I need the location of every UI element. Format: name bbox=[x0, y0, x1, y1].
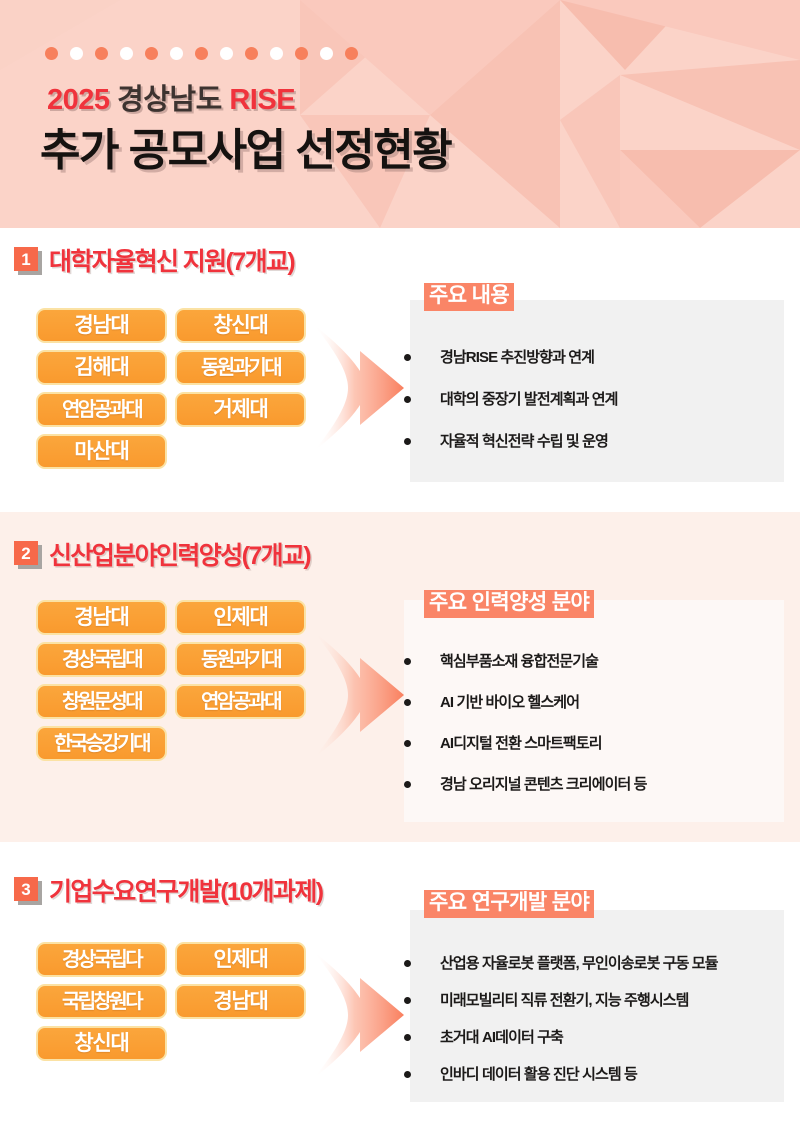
arrow-right-icon bbox=[300, 323, 415, 453]
section-3-university-list: 경상국립다 인제대 국립창원다 경남대 창신대 bbox=[36, 942, 316, 1061]
bullet-text: 경남 오리지널 콘텐츠 크리에이터 등 bbox=[440, 777, 647, 792]
university-pill[interactable]: 동원과기대 bbox=[175, 642, 306, 677]
section-3-heading: 3 기업수요연구개발(10개과제) bbox=[14, 872, 322, 908]
section-number-badge-1: 1 bbox=[14, 247, 40, 273]
section-1-bullet-list: 경남RISE 추진방향과 연계 대학의 중장기 발전계획과 연계 자율적 혁신전… bbox=[404, 350, 618, 449]
university-pill[interactable]: 창신대 bbox=[36, 1026, 167, 1061]
bullet-text: 초거대 AI데이터 구축 bbox=[440, 1030, 563, 1045]
section-1-heading: 1 대학자율혁신 지원(7개교) bbox=[14, 242, 294, 278]
dot-1 bbox=[45, 47, 58, 60]
university-pill[interactable]: 연암공과대 bbox=[36, 392, 167, 427]
bullet-dot-icon bbox=[404, 1071, 411, 1078]
dot-5 bbox=[145, 47, 158, 60]
bullet-dot-icon bbox=[404, 658, 411, 665]
university-pill[interactable]: 한국승강기대 bbox=[36, 726, 167, 761]
university-pill[interactable]: 동원과기대 bbox=[175, 350, 306, 385]
dot-3 bbox=[95, 47, 108, 60]
dot-2 bbox=[70, 47, 83, 60]
section-2-bullet-list: 핵심부품소재 융합전문기술 AI 기반 바이오 헬스케어 AI디지털 전환 스마… bbox=[404, 654, 647, 792]
section-2-heading: 2 신산업분야인력양성(7개교) bbox=[14, 536, 310, 572]
header-subtitle: 2025 경상남도 RISE bbox=[47, 76, 295, 118]
dot-8 bbox=[220, 47, 233, 60]
bullet-item: 미래모빌리티 직류 전환기, 지능 주행시스템 bbox=[404, 993, 718, 1008]
bullet-dot-icon bbox=[404, 1034, 411, 1041]
section-1: 1 대학자율혁신 지원(7개교) 경남대 창신대 김해대 동원과기대 연암공과대… bbox=[0, 228, 800, 512]
arrow-right-icon bbox=[300, 630, 415, 760]
section-1-arrow bbox=[300, 323, 415, 453]
university-pill[interactable]: 경남대 bbox=[36, 600, 167, 635]
bullet-text: 미래모빌리티 직류 전환기, 지능 주행시스템 bbox=[440, 993, 689, 1008]
dot-4 bbox=[120, 47, 133, 60]
university-pill[interactable]: 경상국립대 bbox=[36, 642, 167, 677]
section-3: 3 기업수요연구개발(10개과제) 경상국립다 인제대 국립창원다 경남대 창신… bbox=[0, 842, 800, 1130]
section-2-arrow bbox=[300, 630, 415, 760]
section-2-panel-title: 주요 인력양성 분야 bbox=[424, 590, 594, 618]
badge-number: 1 bbox=[14, 247, 38, 271]
dot-11 bbox=[295, 47, 308, 60]
section-2-university-list: 경남대 인제대 경상국립대 동원과기대 창원문성대 연암공과대 한국승강기대 bbox=[36, 600, 316, 761]
bullet-item: AI디지털 전환 스마트팩토리 bbox=[404, 736, 647, 751]
section-1-title: 대학자율혁신 지원(7개교) bbox=[49, 242, 294, 278]
section-2-panel-title-wrap: 주요 인력양성 분야 bbox=[424, 590, 594, 618]
bullet-dot-icon bbox=[404, 438, 411, 445]
bullet-dot-icon bbox=[404, 740, 411, 747]
university-pill[interactable]: 인제대 bbox=[175, 600, 306, 635]
bullet-dot-icon bbox=[404, 699, 411, 706]
badge-number: 3 bbox=[14, 877, 38, 901]
section-3-panel-title-wrap: 주요 연구개발 분야 bbox=[424, 890, 594, 918]
section-2-title: 신산업분야인력양성(7개교) bbox=[49, 536, 310, 572]
bullet-dot-icon bbox=[404, 997, 411, 1004]
bullet-dot-icon bbox=[404, 960, 411, 967]
bullet-text: 자율적 혁신전략 수립 및 운영 bbox=[440, 434, 608, 449]
university-pill[interactable]: 경남대 bbox=[175, 984, 306, 1019]
arrow-right-icon bbox=[300, 950, 415, 1080]
section-1-university-list: 경남대 창신대 김해대 동원과기대 연암공과대 거제대 마산대 bbox=[36, 308, 316, 469]
section-3-title: 기업수요연구개발(10개과제) bbox=[49, 872, 322, 908]
bullet-text: AI 기반 바이오 헬스케어 bbox=[440, 695, 579, 710]
university-pill[interactable]: 국립창원다 bbox=[36, 984, 167, 1019]
infographic-page: 2025 경상남도 RISE 추가 공모사업 선정현황 1 대학자율혁신 지원(… bbox=[0, 0, 800, 1130]
header-dot-decoration bbox=[45, 47, 358, 60]
bullet-item: 핵심부품소재 융합전문기술 bbox=[404, 654, 647, 669]
bullet-item: 경남 오리지널 콘텐츠 크리에이터 등 bbox=[404, 777, 647, 792]
university-pill[interactable]: 경남대 bbox=[36, 308, 167, 343]
dot-9 bbox=[245, 47, 258, 60]
bullet-text: 인바디 데이터 활용 진단 시스템 등 bbox=[440, 1067, 637, 1082]
bullet-dot-icon bbox=[404, 354, 411, 361]
university-pill[interactable]: 창원문성대 bbox=[36, 684, 167, 719]
page-header: 2025 경상남도 RISE 추가 공모사업 선정현황 bbox=[0, 0, 800, 228]
section-1-panel-title-wrap: 주요 내용 bbox=[424, 283, 514, 311]
bullet-text: AI디지털 전환 스마트팩토리 bbox=[440, 736, 602, 751]
bullet-dot-icon bbox=[404, 781, 411, 788]
bullet-item: 초거대 AI데이터 구축 bbox=[404, 1030, 718, 1045]
header-region: 경상남도 bbox=[110, 84, 230, 116]
section-3-bullet-list: 산업용 자율로봇 플랫폼, 무인이송로봇 구동 모듈 미래모빌리티 직류 전환기… bbox=[404, 956, 718, 1082]
bullet-text: 대학의 중장기 발전계획과 연계 bbox=[440, 392, 618, 407]
bullet-item: 자율적 혁신전략 수립 및 운영 bbox=[404, 434, 618, 449]
university-pill[interactable]: 창신대 bbox=[175, 308, 306, 343]
bullet-item: 대학의 중장기 발전계획과 연계 bbox=[404, 392, 618, 407]
university-pill[interactable]: 경상국립다 bbox=[36, 942, 167, 977]
section-number-badge-2: 2 bbox=[14, 541, 40, 567]
bullet-text: 경남RISE 추진방향과 연계 bbox=[440, 350, 594, 365]
section-3-arrow bbox=[300, 950, 415, 1080]
bullet-item: 산업용 자율로봇 플랫폼, 무인이송로봇 구동 모듈 bbox=[404, 956, 718, 971]
section-3-panel-title: 주요 연구개발 분야 bbox=[424, 890, 594, 918]
bullet-dot-icon bbox=[404, 396, 411, 403]
university-pill[interactable]: 김해대 bbox=[36, 350, 167, 385]
dot-10 bbox=[270, 47, 283, 60]
bullet-item: AI 기반 바이오 헬스케어 bbox=[404, 695, 647, 710]
university-pill[interactable]: 마산대 bbox=[36, 434, 167, 469]
section-2: 2 신산업분야인력양성(7개교) 경남대 인제대 경상국립대 동원과기대 창원문… bbox=[0, 512, 800, 842]
badge-number: 2 bbox=[14, 541, 38, 565]
bullet-text: 산업용 자율로봇 플랫폼, 무인이송로봇 구동 모듈 bbox=[440, 956, 718, 971]
bullet-text: 핵심부품소재 융합전문기술 bbox=[440, 654, 598, 669]
bullet-item: 인바디 데이터 활용 진단 시스템 등 bbox=[404, 1067, 718, 1082]
university-pill[interactable]: 연암공과대 bbox=[175, 684, 306, 719]
dot-13 bbox=[345, 47, 358, 60]
university-pill[interactable]: 인제대 bbox=[175, 942, 306, 977]
dot-12 bbox=[320, 47, 333, 60]
university-pill[interactable]: 거제대 bbox=[175, 392, 306, 427]
dot-6 bbox=[170, 47, 183, 60]
section-number-badge-3: 3 bbox=[14, 877, 40, 903]
header-brand: RISE bbox=[229, 84, 295, 116]
header-year: 2025 bbox=[47, 84, 110, 116]
page-title: 추가 공모사업 선정현황 bbox=[40, 114, 451, 178]
bullet-item: 경남RISE 추진방향과 연계 bbox=[404, 350, 618, 365]
dot-7 bbox=[195, 47, 208, 60]
section-1-panel-title: 주요 내용 bbox=[424, 283, 514, 311]
